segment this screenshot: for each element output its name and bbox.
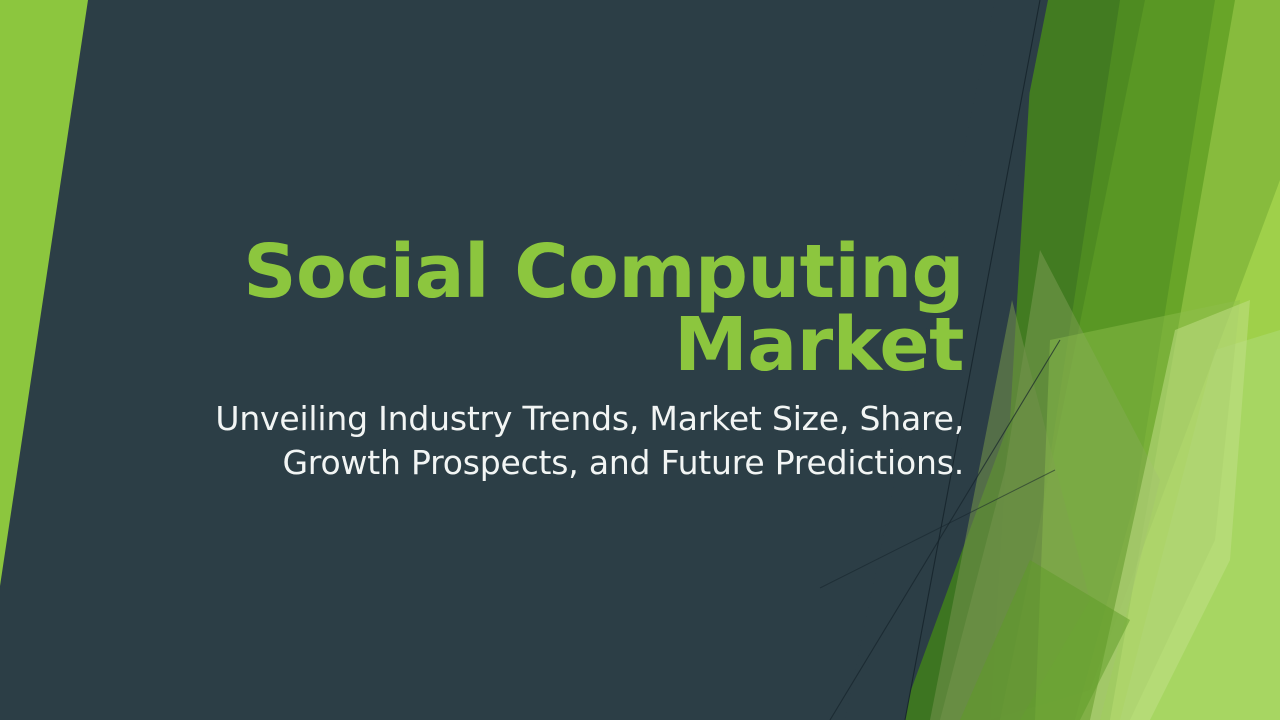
title-text-block: Social Computing Market Unveiling Indust… — [150, 236, 964, 486]
page-title: Social Computing Market — [150, 236, 964, 383]
page-subtitle: Unveiling Industry Trends, Market Size, … — [150, 397, 964, 487]
presentation-slide: Social Computing Market Unveiling Indust… — [0, 0, 1280, 720]
slide-content-layer: Social Computing Market Unveiling Indust… — [0, 0, 1280, 720]
